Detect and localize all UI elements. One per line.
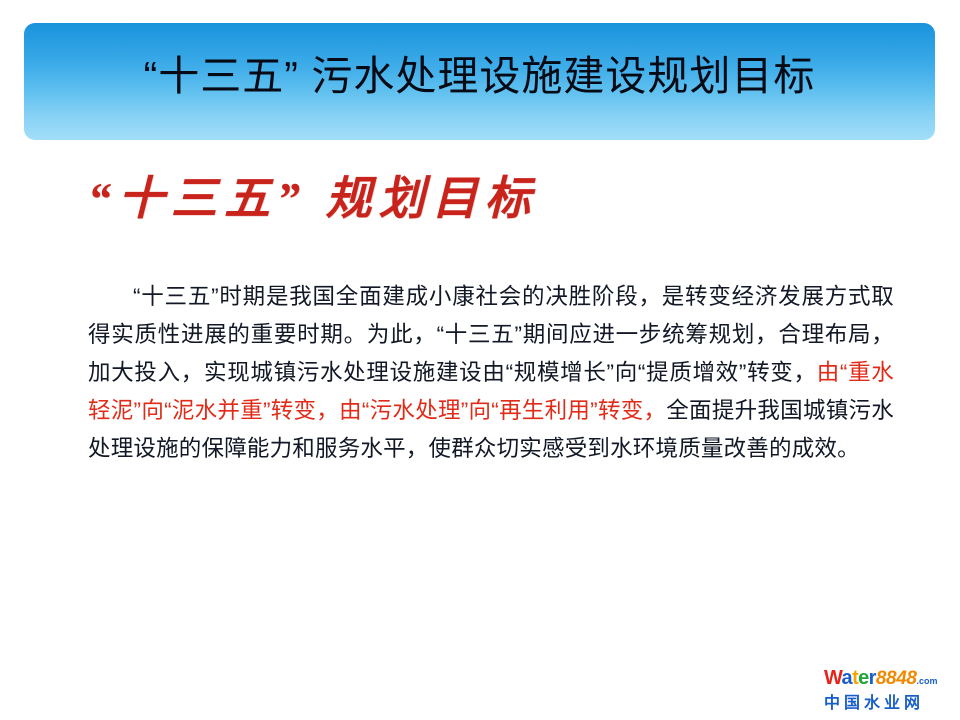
logo-letter-a: a [842,667,853,689]
section-heading: “十三五” 规划目标 [88,168,538,230]
logo-tld: .com [917,676,938,686]
logo-subtitle: 中国水业网 [824,694,952,714]
body-paragraph: “十三五”时期是我国全面建成小康社会的决胜阶段，是转变经济发展方式取得实质性进展… [88,278,894,468]
header-banner: “十三五” 污水处理设施建设规划目标 [24,23,935,140]
logo-number: 8848 [876,668,917,689]
paragraph-segment-normal-1: “十三五”时期是我国全面建成小康社会的决胜阶段，是转变经济发展方式取得实质性进展… [88,284,894,385]
slide-canvas: “十三五” 污水处理设施建设规划目标 “十三五” 规划目标 “十三五”时期是我国… [0,0,960,720]
logo-letter-e: e [858,667,869,689]
logo-wordmark: Water8848.com [824,668,952,692]
logo-letter-r: r [869,667,876,689]
page-title: “十三五” 污水处理设施建设规划目标 [24,51,935,102]
watermark-logo: Water8848.com 中国水业网 [824,668,952,714]
logo-letter-w: W [824,667,842,689]
